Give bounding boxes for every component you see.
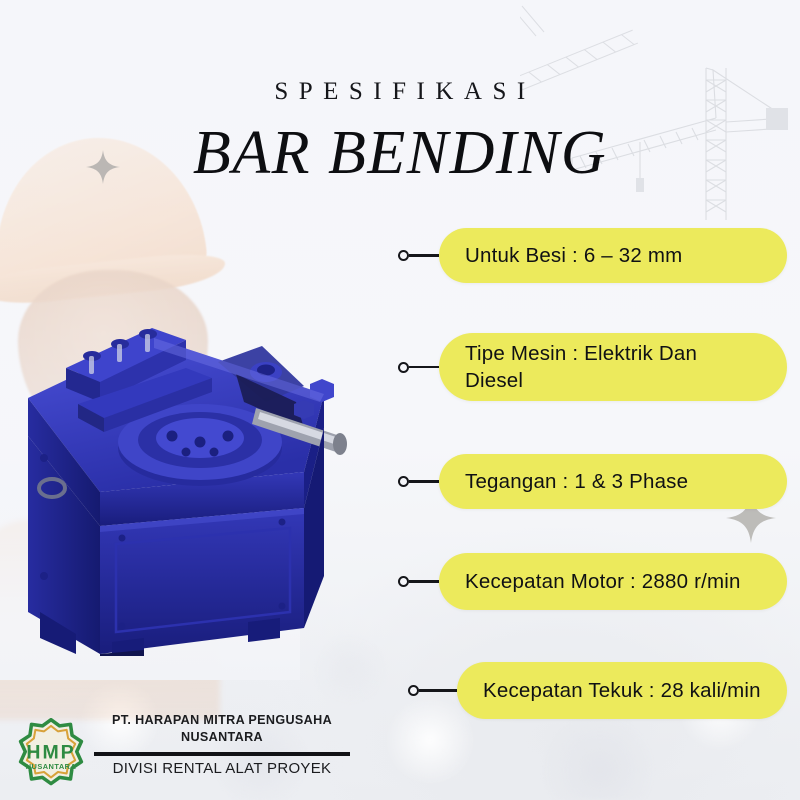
- footer-text-block: PT. HARAPAN MITRA PENGUSAHA NUSANTARA DI…: [92, 712, 352, 777]
- company-name: PT. HARAPAN MITRA PENGUSAHA NUSANTARA: [92, 712, 352, 747]
- connector-line: [409, 254, 439, 257]
- spec-list: Untuk Besi : 6 – 32 mm Tipe Mesin : Elek…: [0, 0, 800, 800]
- spec-pill-tipe-mesin[interactable]: Tipe Mesin : Elektrik Dan Diesel: [439, 333, 787, 401]
- division-name: DIVISI RENTAL ALAT PROYEK: [92, 760, 352, 777]
- hmp-nusantara-logo: HMP NUSANTARA: [12, 718, 90, 790]
- connector-line: [419, 689, 457, 692]
- connector-dot-icon: [398, 576, 409, 587]
- spec-row-4[interactable]: Kecepatan Motor : 2880 r/min: [398, 553, 787, 610]
- logo-sub-text: NUSANTARA: [26, 762, 77, 771]
- spec-label: Kecepatan Tekuk : 28 kali/min: [483, 677, 761, 704]
- connector-dot-icon: [398, 250, 409, 261]
- connector-line: [409, 366, 439, 369]
- spec-label: Tegangan : 1 & 3 Phase: [465, 468, 688, 495]
- footer-divider: [94, 752, 350, 756]
- connector-dot-icon: [398, 362, 409, 373]
- connector-dot-icon: [408, 685, 419, 696]
- spec-row-2[interactable]: Tipe Mesin : Elektrik Dan Diesel: [398, 333, 787, 401]
- poster-footer: HMP NUSANTARA PT. HARAPAN MITRA PENGUSAH…: [0, 706, 800, 800]
- logo-mark-text: HMP: [26, 742, 75, 764]
- spec-label: Tipe Mesin : Elektrik Dan Diesel: [465, 340, 715, 394]
- spec-row-1[interactable]: Untuk Besi : 6 – 32 mm: [398, 228, 787, 283]
- spec-label: Untuk Besi : 6 – 32 mm: [465, 242, 682, 269]
- poster-canvas: SPESIFIKASI BAR BENDING: [0, 0, 800, 800]
- spec-label: Kecepatan Motor : 2880 r/min: [465, 568, 741, 595]
- spec-pill-kecepatan-motor[interactable]: Kecepatan Motor : 2880 r/min: [439, 553, 787, 610]
- connector-line: [409, 580, 439, 583]
- connector-line: [409, 480, 439, 483]
- spec-pill-tegangan[interactable]: Tegangan : 1 & 3 Phase: [439, 454, 787, 509]
- spec-row-3[interactable]: Tegangan : 1 & 3 Phase: [398, 454, 787, 509]
- connector-dot-icon: [398, 476, 409, 487]
- spec-pill-untuk-besi[interactable]: Untuk Besi : 6 – 32 mm: [439, 228, 787, 283]
